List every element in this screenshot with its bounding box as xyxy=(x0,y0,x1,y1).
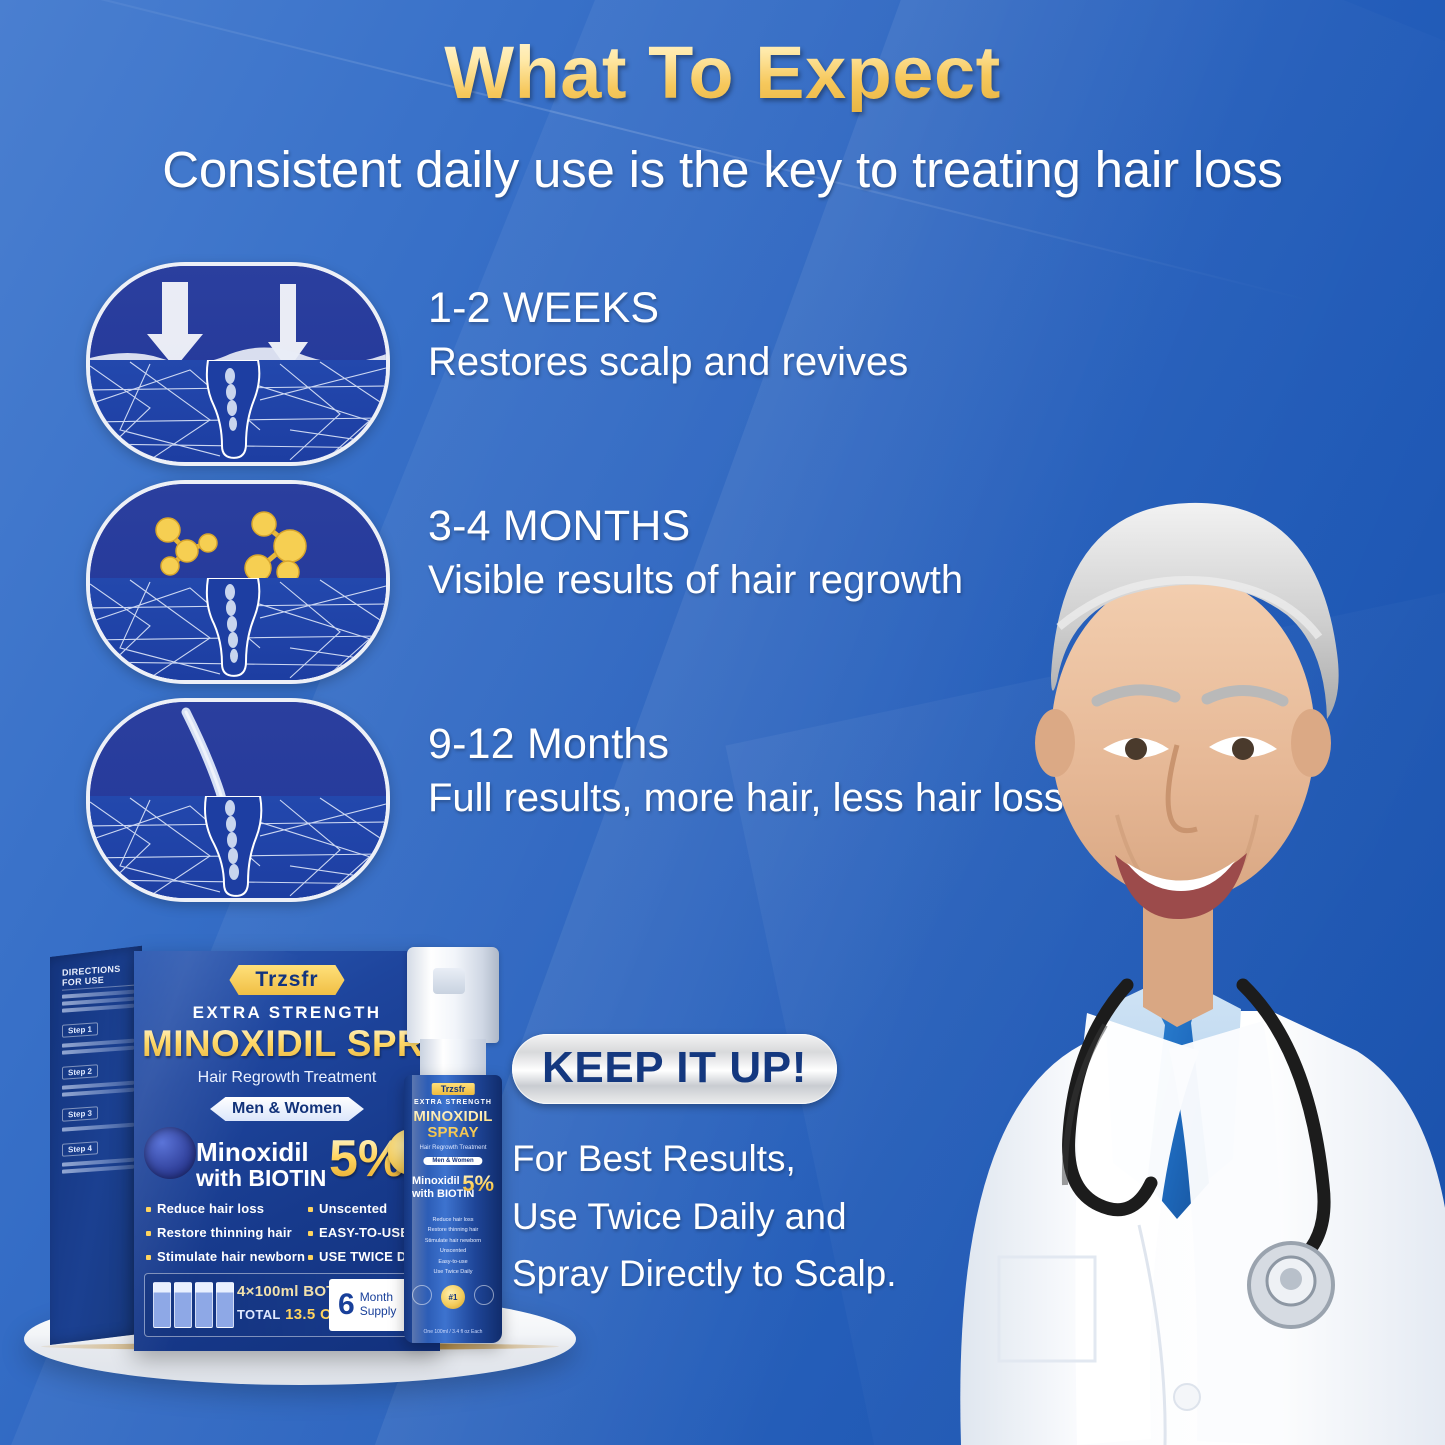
bottle-cap xyxy=(407,947,499,1043)
feature-column-left: Reduce hair loss Restore thinning hair S… xyxy=(146,1201,305,1273)
supply-number: 6 xyxy=(338,1290,355,1320)
biotin-label: with BIOTIN xyxy=(196,1165,326,1191)
bottle-product-name: MINOXIDIL SPRAY xyxy=(404,1109,502,1141)
side-text-line xyxy=(62,1123,134,1132)
treatment-label: Hair Regrowth Treatment xyxy=(198,1069,377,1087)
timeline-text: 3-4 MONTHS Visible results of hair regro… xyxy=(428,502,963,604)
feature-item: Stimulate hair newborn xyxy=(146,1249,305,1264)
supply-label-line2: Supply xyxy=(360,1305,397,1319)
side-text-line xyxy=(62,1046,134,1055)
side-text-line xyxy=(62,1004,134,1013)
bottle-seal-left-icon xyxy=(412,1285,432,1305)
mini-bottle-icons xyxy=(153,1282,234,1328)
audience-label: Men & Women xyxy=(210,1097,364,1121)
dermis-layer xyxy=(90,578,386,680)
side-panel-content: DIRECTIONS FOR USE Step 1 Step 2 Step 3 … xyxy=(50,948,142,1174)
side-text-line xyxy=(62,1165,134,1174)
bottle-strength-label: EXTRA STRENGTH xyxy=(414,1099,492,1106)
product-name: MINOXIDIL SPRAY xyxy=(142,1023,440,1065)
bottle-audience-label: Men & Women xyxy=(423,1157,482,1165)
doctor-illustration xyxy=(891,345,1445,1445)
collagen-mesh xyxy=(90,796,386,898)
timeline-period: 3-4 MONTHS xyxy=(428,502,963,550)
callout-line: For Best Results, xyxy=(512,1130,912,1188)
timeline-text: 1-2 WEEKS Restores scalp and revives xyxy=(428,284,908,386)
timeline-description: Visible results of hair regrowth xyxy=(428,556,963,604)
callout-lines: For Best Results, Use Twice Daily and Sp… xyxy=(512,1130,912,1303)
page-subtitle: Consistent daily use is the key to treat… xyxy=(0,140,1445,199)
dermis-layer xyxy=(90,796,386,898)
brand-name: Trzsfr xyxy=(229,965,344,995)
doctor-photo xyxy=(891,345,1445,1445)
feature-item: Restore thinning hair xyxy=(146,1225,305,1240)
directions-heading: DIRECTIONS FOR USE xyxy=(62,963,134,991)
bottle-feature-list: Reduce hair loss Restore thinning hair S… xyxy=(404,1215,502,1278)
feature-item: Reduce hair loss xyxy=(146,1201,305,1216)
callout-line: Use Twice Daily and xyxy=(512,1188,912,1246)
mini-bottle-icon xyxy=(153,1282,171,1328)
active-ingredient-name: Minoxidil xyxy=(196,1139,326,1165)
bottle-feature-item: Stimulate hair newborn xyxy=(404,1236,502,1246)
page-title: What To Expect xyxy=(444,34,1001,112)
timeline-description: Restores scalp and revives xyxy=(428,338,908,386)
mini-bottle-icon xyxy=(216,1282,234,1328)
bottle-neck xyxy=(420,1039,486,1079)
bottle-name-line2: SPRAY xyxy=(404,1125,502,1141)
collagen-mesh xyxy=(90,360,386,462)
box-side-panel: DIRECTIONS FOR USE Step 1 Step 2 Step 3 … xyxy=(50,946,142,1345)
bottle-feature-item: Restore thinning hair xyxy=(404,1225,502,1235)
scalp-absorption-icon xyxy=(86,262,390,466)
keep-it-up-block: KEEP IT UP! For Best Results, Use Twice … xyxy=(512,1034,912,1303)
step-label: Step 1 xyxy=(62,1022,98,1038)
side-text-line xyxy=(62,1088,134,1097)
callout-line: Spray Directly to Scalp. xyxy=(512,1245,912,1303)
bottle-feature-item: Use Twice Daily xyxy=(404,1267,502,1277)
bottle-name-line1: MINOXIDIL xyxy=(404,1109,502,1125)
rank-badge: #1 xyxy=(441,1285,465,1309)
step-label: Step 3 xyxy=(62,1106,98,1122)
step-label: Step 4 xyxy=(62,1141,98,1157)
bottle-treatment-label: Hair Regrowth Treatment xyxy=(404,1145,502,1151)
extra-strength-label: EXTRA STRENGTH xyxy=(193,1003,382,1023)
collagen-mesh xyxy=(90,578,386,680)
bottle-brand: Trzsfr xyxy=(432,1083,475,1095)
bottle-percent-label: 5% xyxy=(462,1173,494,1195)
promo-image: What To Expect Consistent daily use is t… xyxy=(0,0,1445,1445)
scalp-molecules-icon xyxy=(86,480,390,684)
bottle-seal-right-icon xyxy=(474,1285,494,1305)
headline-wrap: What To Expect xyxy=(0,34,1445,112)
bottle-body: Trzsfr EXTRA STRENGTH MINOXIDIL SPRAY Ha… xyxy=(404,1075,502,1343)
supply-label-line1: Month xyxy=(360,1291,397,1305)
product-bottle: Trzsfr EXTRA STRENGTH MINOXIDIL SPRAY Ha… xyxy=(398,947,510,1347)
step-label: Step 2 xyxy=(62,1064,98,1080)
product-box: DIRECTIONS FOR USE Step 1 Step 2 Step 3 … xyxy=(50,951,440,1353)
follicle-globe-graphic xyxy=(144,1127,196,1179)
supply-label: Month Supply xyxy=(360,1291,397,1319)
bottle-feature-item: Easy-to-use xyxy=(404,1257,502,1267)
dermis-layer xyxy=(90,360,386,462)
scalp-full-hair-icon xyxy=(86,698,390,902)
bottle-feature-item: Unscented xyxy=(404,1246,502,1256)
bottle-volume: One 100ml / 3.4 fl oz Each xyxy=(404,1329,502,1335)
bottle-feature-item: Reduce hair loss xyxy=(404,1215,502,1225)
mini-bottle-icon xyxy=(195,1282,213,1328)
timeline-period: 1-2 WEEKS xyxy=(428,284,908,332)
active-ingredient: Minoxidil with BIOTIN xyxy=(196,1139,326,1191)
quantity-bar: 4×100ml BOTTLES TOTAL 13.5 OZ 6 Month Su… xyxy=(144,1273,432,1337)
keep-it-up-badge: KEEP IT UP! xyxy=(512,1034,837,1104)
mini-bottle-icon xyxy=(174,1282,192,1328)
total-label: TOTAL xyxy=(237,1307,281,1322)
box-front-panel: Trzsfr EXTRA STRENGTH MINOXIDIL SPRAY Ha… xyxy=(134,951,440,1351)
